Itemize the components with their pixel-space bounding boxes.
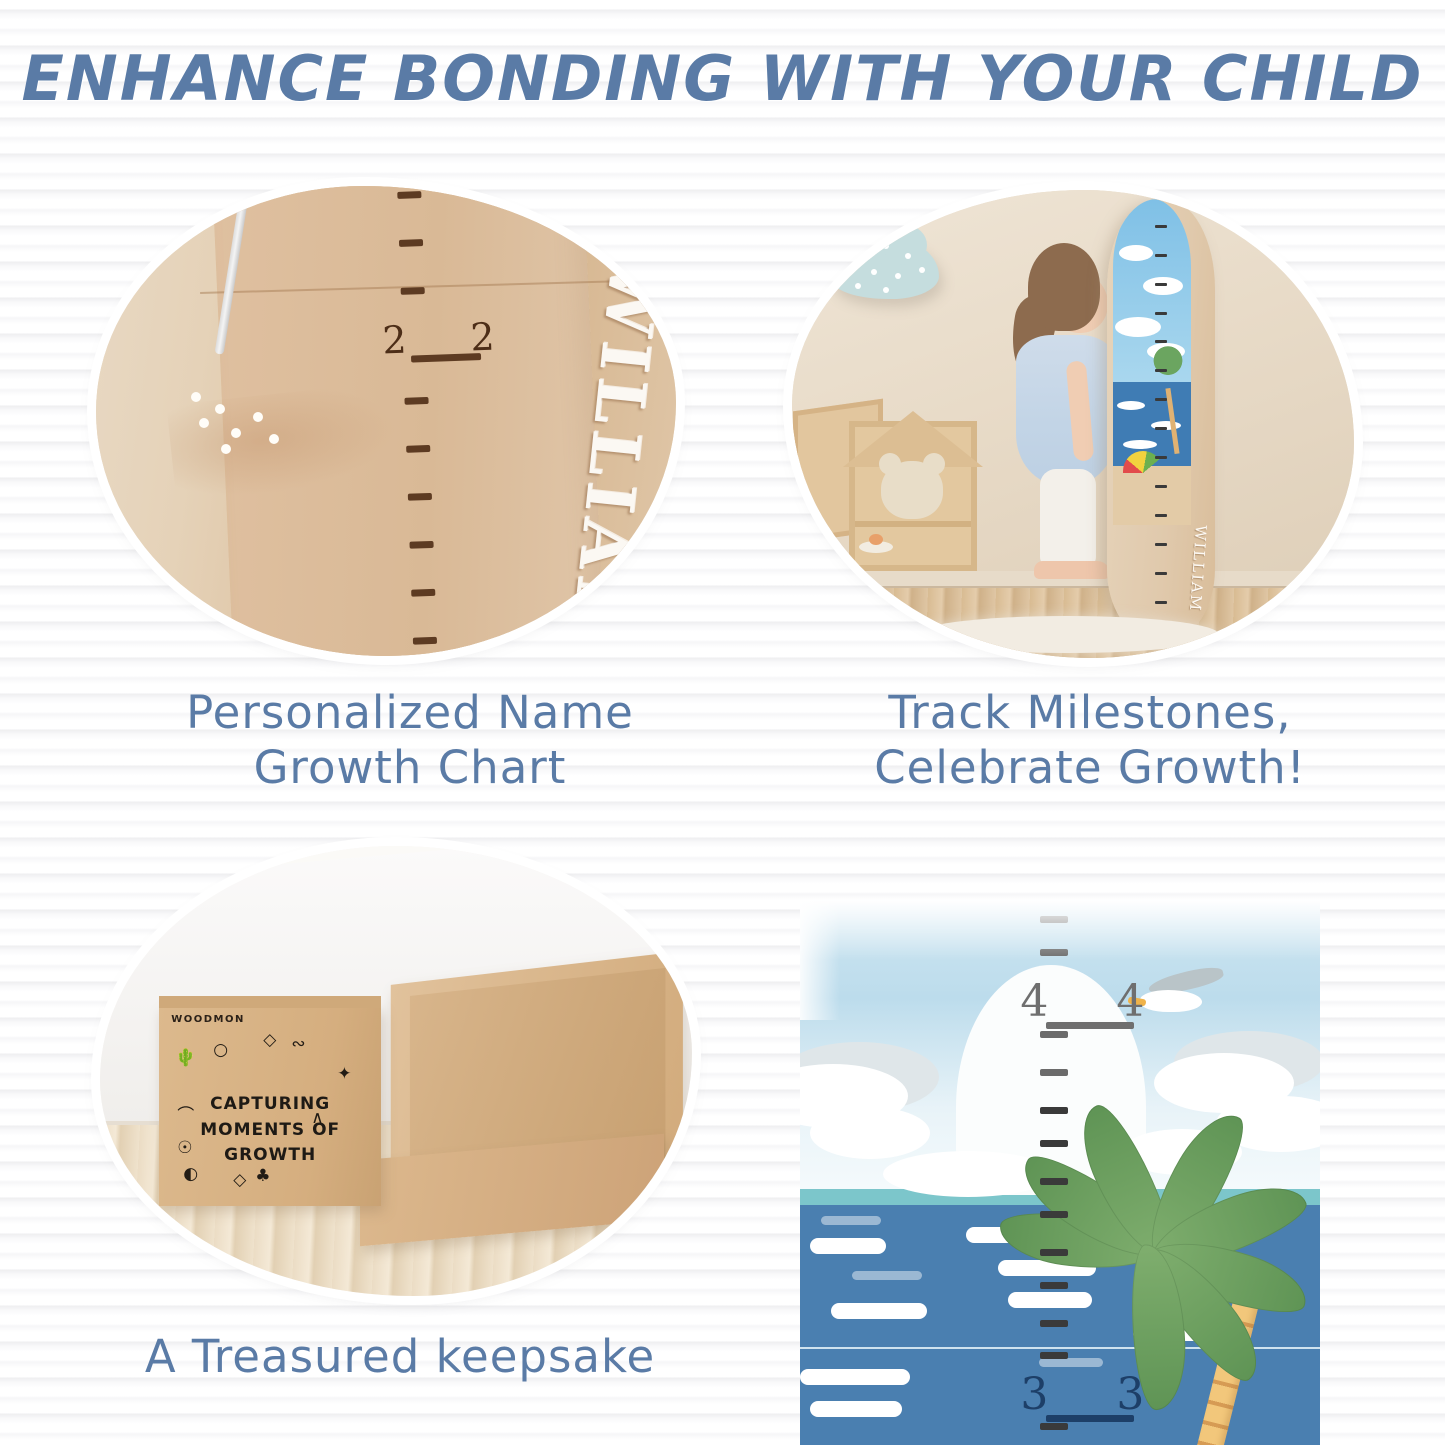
house-shelf-icon (809, 413, 981, 571)
box-title: CAPTURING MOMENTS OF GROWTH (159, 1092, 381, 1169)
wave-icon (852, 1271, 922, 1280)
panel-room-photo: WILLIAM (792, 190, 1354, 658)
ruler-tick-icon (1040, 1031, 1068, 1038)
wave-icon (821, 1216, 881, 1225)
ruler-marker-right: 4 (1116, 976, 1144, 1027)
cloud-icon (810, 1107, 930, 1159)
ruler-tick-icon (411, 589, 435, 597)
wave-icon (810, 1238, 886, 1254)
ruler-marker-bar (411, 354, 481, 363)
dinosaur-doodle-icon: ∾ (291, 1036, 305, 1053)
lion-doodle-icon: ○ (213, 1042, 228, 1059)
ruler-tick-icon (408, 493, 432, 501)
page-title: ENHANCE BONDING WITH YOUR CHILD (0, 42, 1445, 115)
wave-icon (800, 1369, 910, 1385)
ruler-tick-icon (1040, 1178, 1068, 1185)
child-legs (1040, 469, 1096, 567)
ruler-marker-3: 3 3 (968, 1369, 1168, 1423)
beach-top-fade (800, 900, 1320, 960)
child-feet (1034, 561, 1110, 579)
ruler-tick-icon (409, 541, 433, 549)
ruler-tick-icon (397, 192, 421, 200)
cloud-lamp-dots (831, 225, 951, 305)
box-top-edge (159, 996, 381, 1008)
panel-beach-illustration: 4 4 3 3 (800, 900, 1320, 1445)
ruler-tick-icon (1040, 1282, 1068, 1289)
ruler-tick-icon (1040, 1352, 1068, 1359)
caption-line-1: Track Milestones, (760, 686, 1420, 741)
beach-ruler-scale: 4 4 3 3 (992, 900, 1112, 1445)
wave-icon (831, 1303, 927, 1319)
ruler-marker-left: 4 (1020, 976, 1048, 1027)
chart-closeup-scene: 2 2 WILLIAM (96, 186, 676, 656)
ruler-tick-icon (404, 397, 428, 405)
teddy-bear-icon (881, 461, 943, 519)
ruler-scale: 2 2 (382, 186, 532, 656)
infographic-page: ENHANCE BONDING WITH YOUR CHILD (0, 0, 1445, 1445)
panel-chart-closeup: 2 2 WILLIAM (96, 186, 676, 656)
floor-rug (916, 616, 1219, 653)
ruler-tick-icon (399, 239, 423, 247)
ruler-tick-icon (406, 445, 430, 453)
ruler-tick-icon (1040, 1107, 1068, 1114)
ruler-tick-icon (1040, 1423, 1068, 1430)
printed-kraft-box: WOODMON 🌵 ○ ∾ ◇ ⌒ ☉ ∧ ◐ ♣ ◇ ✦ CAPTURING … (159, 1006, 381, 1206)
ruler-tick-icon (400, 287, 424, 295)
cloud-icon (1119, 245, 1153, 261)
board-personalized-name: WILLIAM (1186, 525, 1210, 613)
packaging-scene: WOODMON 🌵 ○ ∾ ◇ ⌒ ☉ ∧ ◐ ♣ ◇ ✦ CAPTURING … (100, 846, 692, 1296)
ruler-marker-4: 4 4 (968, 976, 1168, 1030)
child-dress (1016, 335, 1116, 485)
board-sand (1113, 466, 1191, 525)
ruler-marker-left: 2 (381, 318, 407, 363)
caption-chart-closeup: Personalized Name Growth Chart (60, 686, 760, 796)
ruler-tick-icon (413, 637, 437, 645)
cat-doodle-icon: ◇ (233, 1172, 246, 1189)
ruler-tick-icon (1040, 1320, 1068, 1327)
sand-dots-icon (189, 388, 309, 468)
wave-icon (810, 1401, 902, 1417)
box-title-line-2: MOMENTS (200, 1120, 305, 1140)
leaf-doodle-icon: ✦ (337, 1066, 351, 1083)
caption-line-2: Celebrate Growth! (760, 741, 1420, 796)
ruler-marker-2: 2 2 (357, 313, 548, 364)
toucan-doodle-icon: ◐ (183, 1166, 198, 1183)
beach-left-fade (800, 900, 840, 1020)
ruler-tick-icon (1040, 1249, 1068, 1256)
ruler-marker-bar (1046, 1415, 1134, 1422)
shelf-divider (855, 521, 971, 527)
room-scene: WILLIAM (792, 190, 1354, 658)
ruler-tick-icon (1040, 1211, 1068, 1218)
palm-tree-doodle-icon: ♣ (255, 1168, 270, 1185)
caption-line-1: Personalized Name (60, 686, 760, 741)
board-artwork (1113, 199, 1191, 525)
caption-line-2: Growth Chart (60, 741, 760, 796)
child-hair (1028, 243, 1100, 331)
surfboard-growth-chart-icon: WILLIAM (1107, 199, 1215, 639)
board-ruler (1160, 208, 1162, 622)
cloud-icon (1115, 317, 1161, 337)
house-roof (843, 411, 983, 467)
ruler-tick-icon (1040, 1140, 1068, 1147)
caption-room-photo: Track Milestones, Celebrate Growth! (760, 686, 1420, 796)
pineapple-doodle-icon: ◇ (263, 1032, 276, 1049)
cactus-doodle-icon: 🌵 (175, 1050, 196, 1067)
ruler-marker-bar (1046, 1022, 1134, 1029)
ruler-tick-icon (1040, 1069, 1068, 1076)
ruler-marker-left: 3 (1020, 1369, 1048, 1420)
palm-tree-icon (1147, 343, 1189, 387)
brand-logo: WOODMON (171, 1014, 245, 1025)
box-title-line-1: CAPTURING (210, 1094, 330, 1114)
ruler-marker-right: 3 (1116, 1369, 1144, 1420)
panel-packaging-photo: WOODMON 🌵 ○ ∾ ◇ ⌒ ☉ ∧ ◐ ♣ ◇ ✦ CAPTURING … (100, 846, 692, 1296)
caption-packaging-photo: A Treasured keepsake (40, 1330, 760, 1385)
